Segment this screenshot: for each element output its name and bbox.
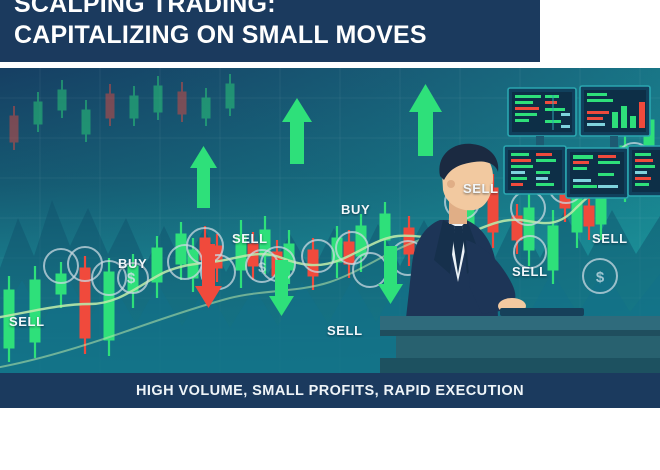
footer-whitespace [0, 408, 660, 470]
trading-chart-illustration: $ $ $ [0, 68, 660, 373]
keyboard [500, 308, 584, 316]
svg-text:$: $ [127, 270, 136, 287]
title-line-1: SCALPING TRADING: [14, 0, 526, 20]
monitor-top-right [580, 86, 650, 136]
candlestick-chart: $ $ $ [0, 68, 660, 373]
desk-surface [380, 316, 660, 330]
svg-text:$: $ [258, 259, 266, 275]
desk-edge [380, 330, 660, 336]
caption-banner: HIGH VOLUME, SMALL PROFITS, RAPID EXECUT… [0, 373, 660, 408]
svg-text:$: $ [596, 269, 605, 286]
monitor-bottom-center [566, 148, 628, 198]
header-whitespace [540, 0, 660, 68]
title-banner: SCALPING TRADING: CAPITALIZING ON SMALL … [0, 0, 540, 62]
monitor-bottom-right [628, 146, 660, 196]
title-line-2: CAPITALIZING ON SMALL MOVES [14, 20, 526, 51]
desk-shadow [380, 358, 660, 373]
desk-panel [396, 336, 660, 358]
monitor-bottom-left [504, 146, 566, 194]
infographic-canvas: $ $ $ [0, 0, 660, 470]
monitor-top-left [508, 88, 576, 136]
caption-text: HIGH VOLUME, SMALL PROFITS, RAPID EXECUT… [136, 383, 524, 399]
